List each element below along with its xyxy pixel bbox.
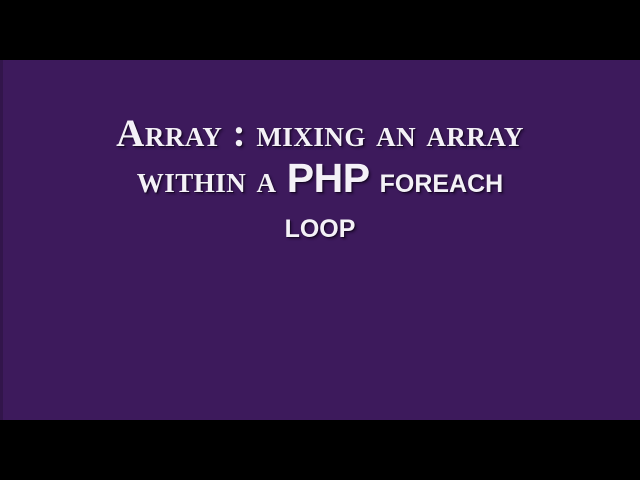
title-line-2-suffix: foreach bbox=[370, 159, 504, 200]
letterbox-bar-top bbox=[0, 0, 640, 60]
letterbox-bar-bottom bbox=[0, 420, 640, 480]
title-line-3: loop bbox=[26, 203, 614, 246]
title-line-1-text: Array : mixing an array bbox=[116, 112, 524, 155]
title-line-3-text: loop bbox=[285, 204, 356, 245]
title-line-2-prefix: within a bbox=[137, 158, 287, 201]
title-card-stage: Array : mixing an array within a PHP for… bbox=[0, 60, 640, 420]
title-line-2: within a PHP foreach bbox=[26, 157, 614, 201]
title-block: Array : mixing an array within a PHP for… bbox=[0, 112, 640, 246]
title-line-1: Array : mixing an array bbox=[26, 112, 614, 155]
title-line-2-acronym: PHP bbox=[287, 155, 370, 201]
video-thumbnail-frame: Array : mixing an array within a PHP for… bbox=[0, 0, 640, 480]
